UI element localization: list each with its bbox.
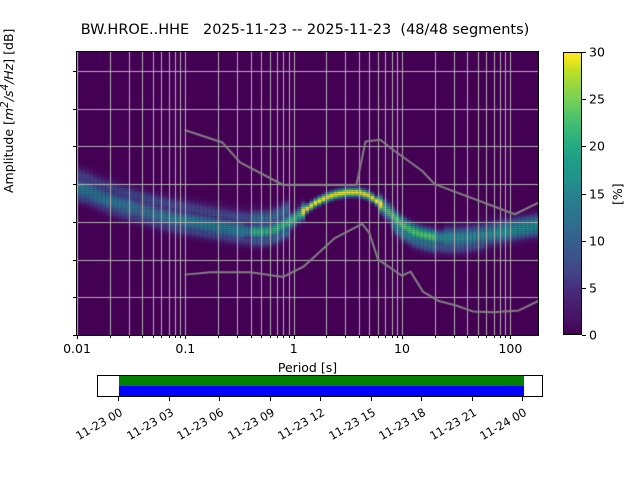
- colorbar-tick-label: 10: [589, 233, 605, 248]
- coverage-bar-green: [119, 376, 524, 386]
- axis-spine-bottom: [76, 335, 539, 336]
- timeline-tick: [270, 397, 271, 401]
- timeline-tick-label: 11-23 21: [423, 405, 478, 445]
- timeline-tick: [219, 397, 220, 401]
- colorbar-tick-label: 25: [589, 92, 605, 107]
- colorbar: [563, 52, 582, 335]
- timeline-tick-label: 11-23 12: [272, 405, 327, 445]
- colorbar-tick: [582, 52, 586, 53]
- timeline-tick-label: 11-23 03: [120, 405, 175, 445]
- x-tick-label: 0.1: [175, 341, 195, 356]
- colorbar-tick-label: 5: [589, 280, 597, 295]
- y-axis-title: Amplitude [m2/s4/Hz] [dB]: [0, 29, 16, 193]
- axis-spine-left: [76, 52, 77, 336]
- colorbar-tick-label: 20: [589, 139, 605, 154]
- colorbar-tick-label: 0: [589, 328, 597, 343]
- colorbar-tick: [582, 288, 586, 289]
- colorbar-tick: [582, 194, 586, 195]
- x-tick-label: 1: [290, 341, 298, 356]
- data-coverage-timeline[interactable]: [97, 375, 543, 397]
- x-tick-label: 100: [498, 341, 522, 356]
- timeline-tick-label: 11-23 15: [322, 405, 377, 445]
- colorbar-tick: [582, 241, 586, 242]
- timeline-tick-label: 11-24 00: [474, 405, 529, 445]
- coverage-bar-blue: [119, 386, 524, 396]
- timeline-tick: [421, 397, 422, 401]
- timeline-tick: [320, 397, 321, 401]
- x-axis-title: Period [s]: [77, 360, 538, 375]
- timeline-tick: [522, 397, 523, 401]
- colorbar-tick: [582, 335, 586, 336]
- axis-spine-top: [76, 51, 539, 52]
- colorbar-tick-label: 15: [589, 186, 605, 201]
- colorbar-tick: [582, 146, 586, 147]
- x-tick-label: 10: [394, 341, 410, 356]
- figure-title: BW.HROE..HHE 2025-11-23 -- 2025-11-23 (4…: [0, 22, 610, 38]
- timeline-tick: [118, 397, 119, 401]
- timeline-tick: [169, 397, 170, 401]
- timeline-tick-label: 11-23 18: [373, 405, 428, 445]
- timeline-tick-label: 11-23 00: [70, 405, 125, 445]
- timeline-tick-label: 11-23 06: [171, 405, 226, 445]
- timeline-tick-label: 11-23 09: [221, 405, 276, 445]
- ppsd-axes: [77, 52, 538, 335]
- ppsd-figure: BW.HROE..HHE 2025-11-23 -- 2025-11-23 (4…: [0, 0, 640, 480]
- x-tick-label: 0.01: [63, 341, 91, 356]
- colorbar-tick-label: 30: [589, 45, 605, 60]
- colorbar-title: [%]: [610, 183, 625, 205]
- axis-spine-right: [538, 52, 539, 336]
- timeline-tick: [472, 397, 473, 401]
- peterson-noise-models: [77, 52, 538, 335]
- timeline-tick: [371, 397, 372, 401]
- colorbar-tick: [582, 99, 586, 100]
